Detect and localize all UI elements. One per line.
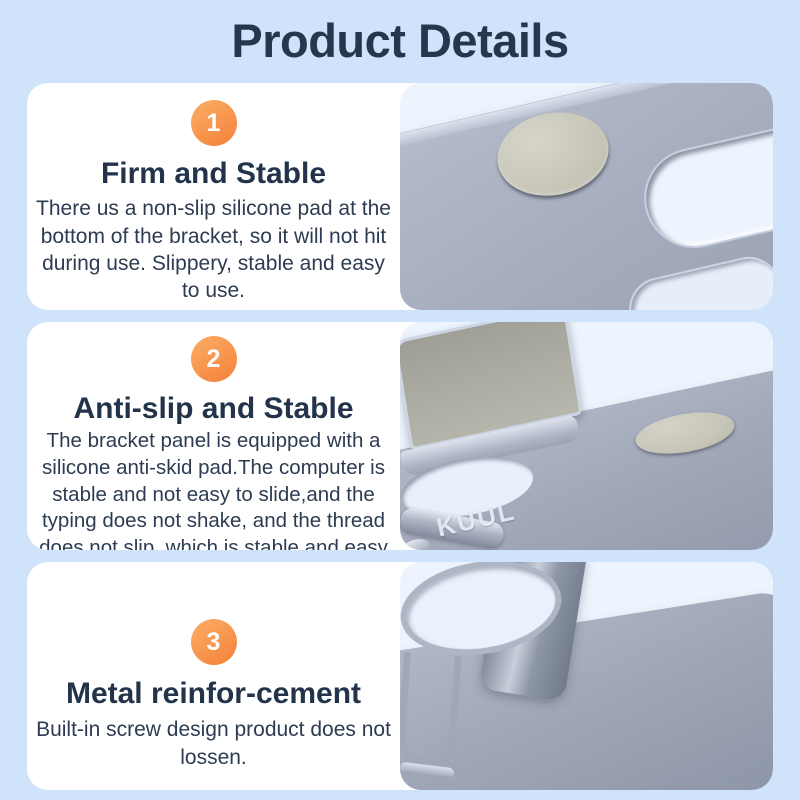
feature-text-column-2: 2 Anti-slip and Stable The bracket panel… (27, 322, 400, 550)
feature-text-column-1: 1 Firm and Stable There us a non-slip si… (27, 83, 400, 310)
feature-title-2: Anti-slip and Stable (73, 393, 353, 425)
step-badge-3: 3 (191, 619, 237, 665)
product-photo-3 (400, 562, 773, 790)
step-badge-1: 1 (191, 100, 237, 146)
feature-card-2: 2 Anti-slip and Stable The bracket panel… (27, 322, 773, 550)
product-photo-2: KUUL (400, 322, 773, 550)
feature-card-1: 1 Firm and Stable There us a non-slip si… (27, 83, 773, 310)
feature-body-1: There us a non-slip silicone pad at the … (36, 195, 391, 304)
feature-card-3: 3 Metal reinfor-cement Built-in screw de… (27, 562, 773, 790)
feature-title-1: Firm and Stable (101, 158, 326, 190)
feature-body-2: The bracket panel is equipped with a sil… (31, 428, 397, 550)
hinge-bracket-hook-icon (400, 652, 462, 767)
product-photo-1 (400, 83, 773, 310)
feature-text-column-3: 3 Metal reinfor-cement Built-in screw de… (27, 562, 400, 790)
step-badge-2: 2 (191, 336, 237, 382)
feature-title-3: Metal reinfor-cement (66, 678, 361, 710)
page-title: Product Details (0, 11, 800, 71)
feature-body-3: Built-in screw design product does not l… (36, 716, 391, 771)
